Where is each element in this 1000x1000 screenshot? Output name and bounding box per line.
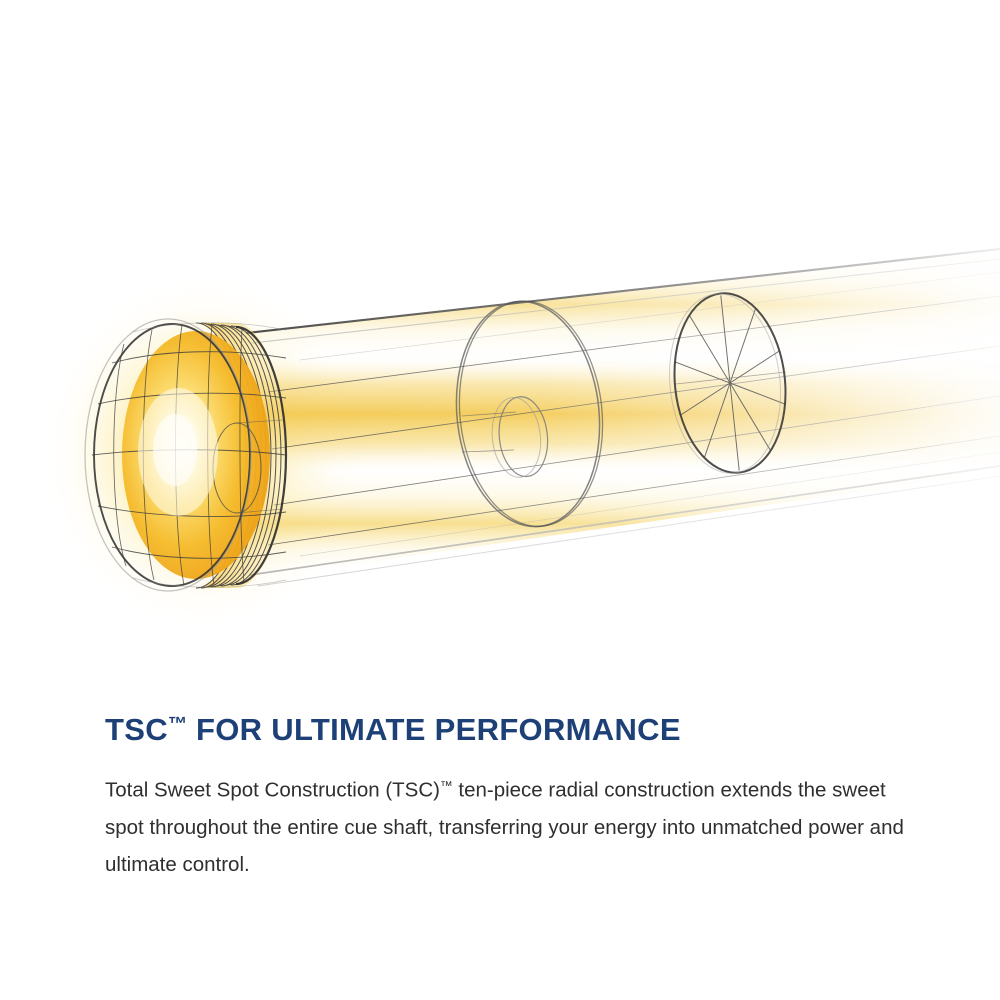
tsc-cue-illustration (0, 0, 1000, 690)
heading-text-lead: TSC (105, 712, 168, 747)
tip-specular-core-hot (153, 414, 197, 486)
body-line-1-lead: Total Sweet Spot Construction (TSC) (105, 779, 440, 802)
right-edge-fade (840, 200, 1000, 560)
feature-copy-block: TSC™ FOR ULTIMATE PERFORMANCE Total Swee… (105, 705, 905, 883)
product-feature-panel: TSC™ FOR ULTIMATE PERFORMANCE Total Swee… (0, 0, 1000, 1000)
heading-text-tail: FOR ULTIMATE PERFORMANCE (187, 712, 681, 747)
trademark-icon: ™ (168, 714, 187, 735)
trademark-icon-body: ™ (440, 778, 453, 793)
feature-description: Total Sweet Spot Construction (TSC)™ ten… (105, 767, 905, 883)
cue-shaft-cutaway-graphic (0, 0, 1000, 690)
page-title: TSC™ FOR ULTIMATE PERFORMANCE (105, 705, 905, 750)
body-line-1-tail: ten-piece radial construction (453, 779, 715, 802)
